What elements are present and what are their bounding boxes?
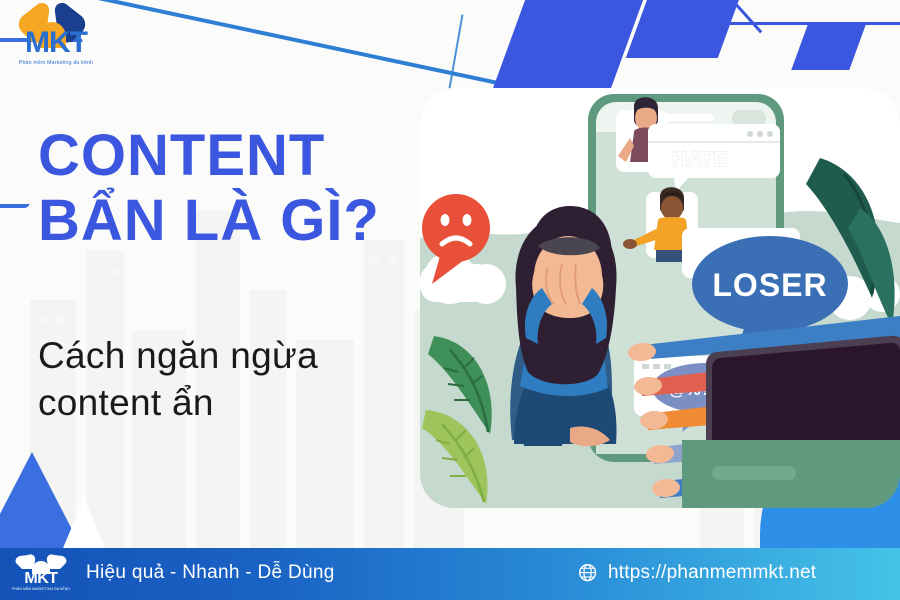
footer-logo-tagline: PHẦN MỀM MARKETING ĐA KÊNH bbox=[10, 587, 72, 591]
logo-tagline: Phần mềm Marketing đa kênh bbox=[6, 60, 106, 66]
footer-logo-wordmark: MKT bbox=[10, 571, 72, 587]
footer-url-group[interactable]: https://phanmemmkt.net bbox=[578, 562, 816, 584]
page-subtitle-line2: content ẩn bbox=[38, 379, 458, 426]
footer-brand-logo[interactable]: MKT PHẦN MỀM MARKETING ĐA KÊNH bbox=[10, 553, 72, 595]
sad-girl-figure bbox=[510, 206, 616, 446]
svg-text:LOSER: LOSER bbox=[712, 267, 827, 303]
page-title-line1: CONTENT bbox=[38, 128, 438, 185]
svg-text:HATE: HATE bbox=[672, 148, 728, 171]
poster-canvas: HATE HATE bbox=[0, 0, 900, 600]
cyberbullying-illustration: HATE HATE bbox=[420, 88, 900, 508]
logo-wordmark: MKT bbox=[10, 28, 102, 58]
headline-block: CONTENT BẨN LÀ GÌ? bbox=[38, 128, 438, 250]
page-title-line2: BẨN LÀ GÌ? bbox=[38, 193, 438, 250]
footer-website-url[interactable]: https://phanmemmkt.net bbox=[608, 562, 816, 584]
footer-tagline: Hiệu quả - Nhanh - Dễ Dùng bbox=[86, 562, 335, 584]
page-subtitle-line1: Cách ngăn ngừa bbox=[38, 332, 458, 379]
decor-line-horizontal bbox=[700, 22, 900, 25]
footer-bar: MKT PHẦN MỀM MARKETING ĐA KÊNH Hiệu quả … bbox=[0, 548, 900, 600]
laptop bbox=[682, 336, 900, 508]
globe-icon bbox=[578, 563, 599, 584]
brand-logo[interactable]: MKT Phần mềm Marketing đa kênh bbox=[6, 2, 104, 80]
page-subtitle: Cách ngăn ngừa content ẩn bbox=[38, 332, 458, 427]
